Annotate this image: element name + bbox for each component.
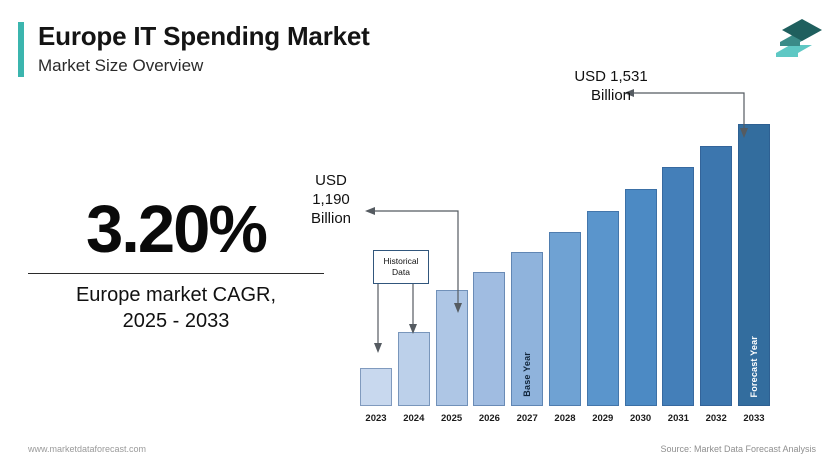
page-subtitle: Market Size Overview bbox=[38, 55, 370, 77]
bar-inline-label-2027: Base Year bbox=[522, 352, 532, 397]
x-axis-label-2024: 2024 bbox=[403, 413, 424, 424]
bar-2031 bbox=[662, 167, 694, 406]
historical-data-callout: Historical Data bbox=[373, 250, 429, 284]
header: Europe IT Spending Market Market Size Ov… bbox=[18, 22, 370, 77]
bar-2026 bbox=[473, 272, 505, 406]
bar-2032 bbox=[700, 146, 732, 406]
forecast-value-annotation: USD 1,531 Billion bbox=[552, 68, 670, 106]
footer-website: www.marketdataforecast.com bbox=[28, 444, 146, 454]
cagr-divider bbox=[28, 273, 324, 274]
bar-column: Forecast Year2033 bbox=[738, 124, 770, 424]
x-axis-label-2023: 2023 bbox=[365, 413, 386, 424]
cagr-caption-line1: Europe market CAGR, bbox=[28, 282, 324, 308]
cagr-value: 3.20% bbox=[28, 196, 324, 264]
title-accent-bar bbox=[18, 22, 24, 77]
bar-2025 bbox=[436, 290, 468, 406]
cagr-caption-line2: 2025 - 2033 bbox=[28, 308, 324, 334]
bar-column: 2025 bbox=[436, 124, 468, 424]
bar-chart: 2023202420252026Base Year202720282029203… bbox=[350, 60, 780, 420]
x-axis-label-2030: 2030 bbox=[630, 413, 651, 424]
bar-inline-label-2033: Forecast Year bbox=[749, 336, 759, 397]
bar-2024 bbox=[398, 332, 430, 407]
bar-column: 2028 bbox=[549, 124, 581, 424]
x-axis-label-2025: 2025 bbox=[441, 413, 462, 424]
base-annotation-line1: USD bbox=[296, 172, 366, 191]
stacked-layers-logo bbox=[768, 13, 826, 63]
bar-2029 bbox=[587, 211, 619, 406]
historical-callout-line2: Data bbox=[392, 267, 410, 278]
bar-column: 2030 bbox=[625, 124, 657, 424]
cagr-caption: Europe market CAGR, 2025 - 2033 bbox=[28, 282, 324, 334]
forecast-annotation-line1: USD 1,531 bbox=[552, 68, 670, 87]
base-annotation-line3: Billion bbox=[296, 210, 366, 229]
x-axis-label-2033: 2033 bbox=[743, 413, 764, 424]
bar-2030 bbox=[625, 189, 657, 406]
bar-column: Base Year2027 bbox=[511, 124, 543, 424]
bar-2033: Forecast Year bbox=[738, 124, 770, 406]
bar-2023 bbox=[360, 368, 392, 406]
bar-column: 2032 bbox=[700, 124, 732, 424]
x-axis-label-2032: 2032 bbox=[706, 413, 727, 424]
x-axis-label-2026: 2026 bbox=[479, 413, 500, 424]
bar-2027: Base Year bbox=[511, 252, 543, 406]
cagr-block: 3.20% Europe market CAGR, 2025 - 2033 bbox=[28, 196, 324, 334]
page-title: Europe IT Spending Market bbox=[38, 22, 370, 52]
historical-callout-line1: Historical bbox=[384, 256, 419, 267]
base-value-annotation: USD 1,190 Billion bbox=[296, 172, 366, 228]
chart-plot-area: 2023202420252026Base Year202720282029203… bbox=[360, 120, 770, 450]
forecast-annotation-line2: Billion bbox=[552, 87, 670, 106]
x-axis-label-2029: 2029 bbox=[592, 413, 613, 424]
bar-column: 2029 bbox=[587, 124, 619, 424]
bar-2028 bbox=[549, 232, 581, 406]
base-annotation-line2: 1,190 bbox=[296, 191, 366, 210]
x-axis-label-2027: 2027 bbox=[517, 413, 538, 424]
infographic-canvas: Europe IT Spending Market Market Size Ov… bbox=[0, 0, 840, 473]
bar-column: 2026 bbox=[473, 124, 505, 424]
footer-source: Source: Market Data Forecast Analysis bbox=[660, 444, 816, 454]
stacked-layers-icon bbox=[768, 13, 826, 63]
bar-column: 2031 bbox=[662, 124, 694, 424]
x-axis-label-2028: 2028 bbox=[554, 413, 575, 424]
title-block: Europe IT Spending Market Market Size Ov… bbox=[38, 22, 370, 77]
x-axis-label-2031: 2031 bbox=[668, 413, 689, 424]
